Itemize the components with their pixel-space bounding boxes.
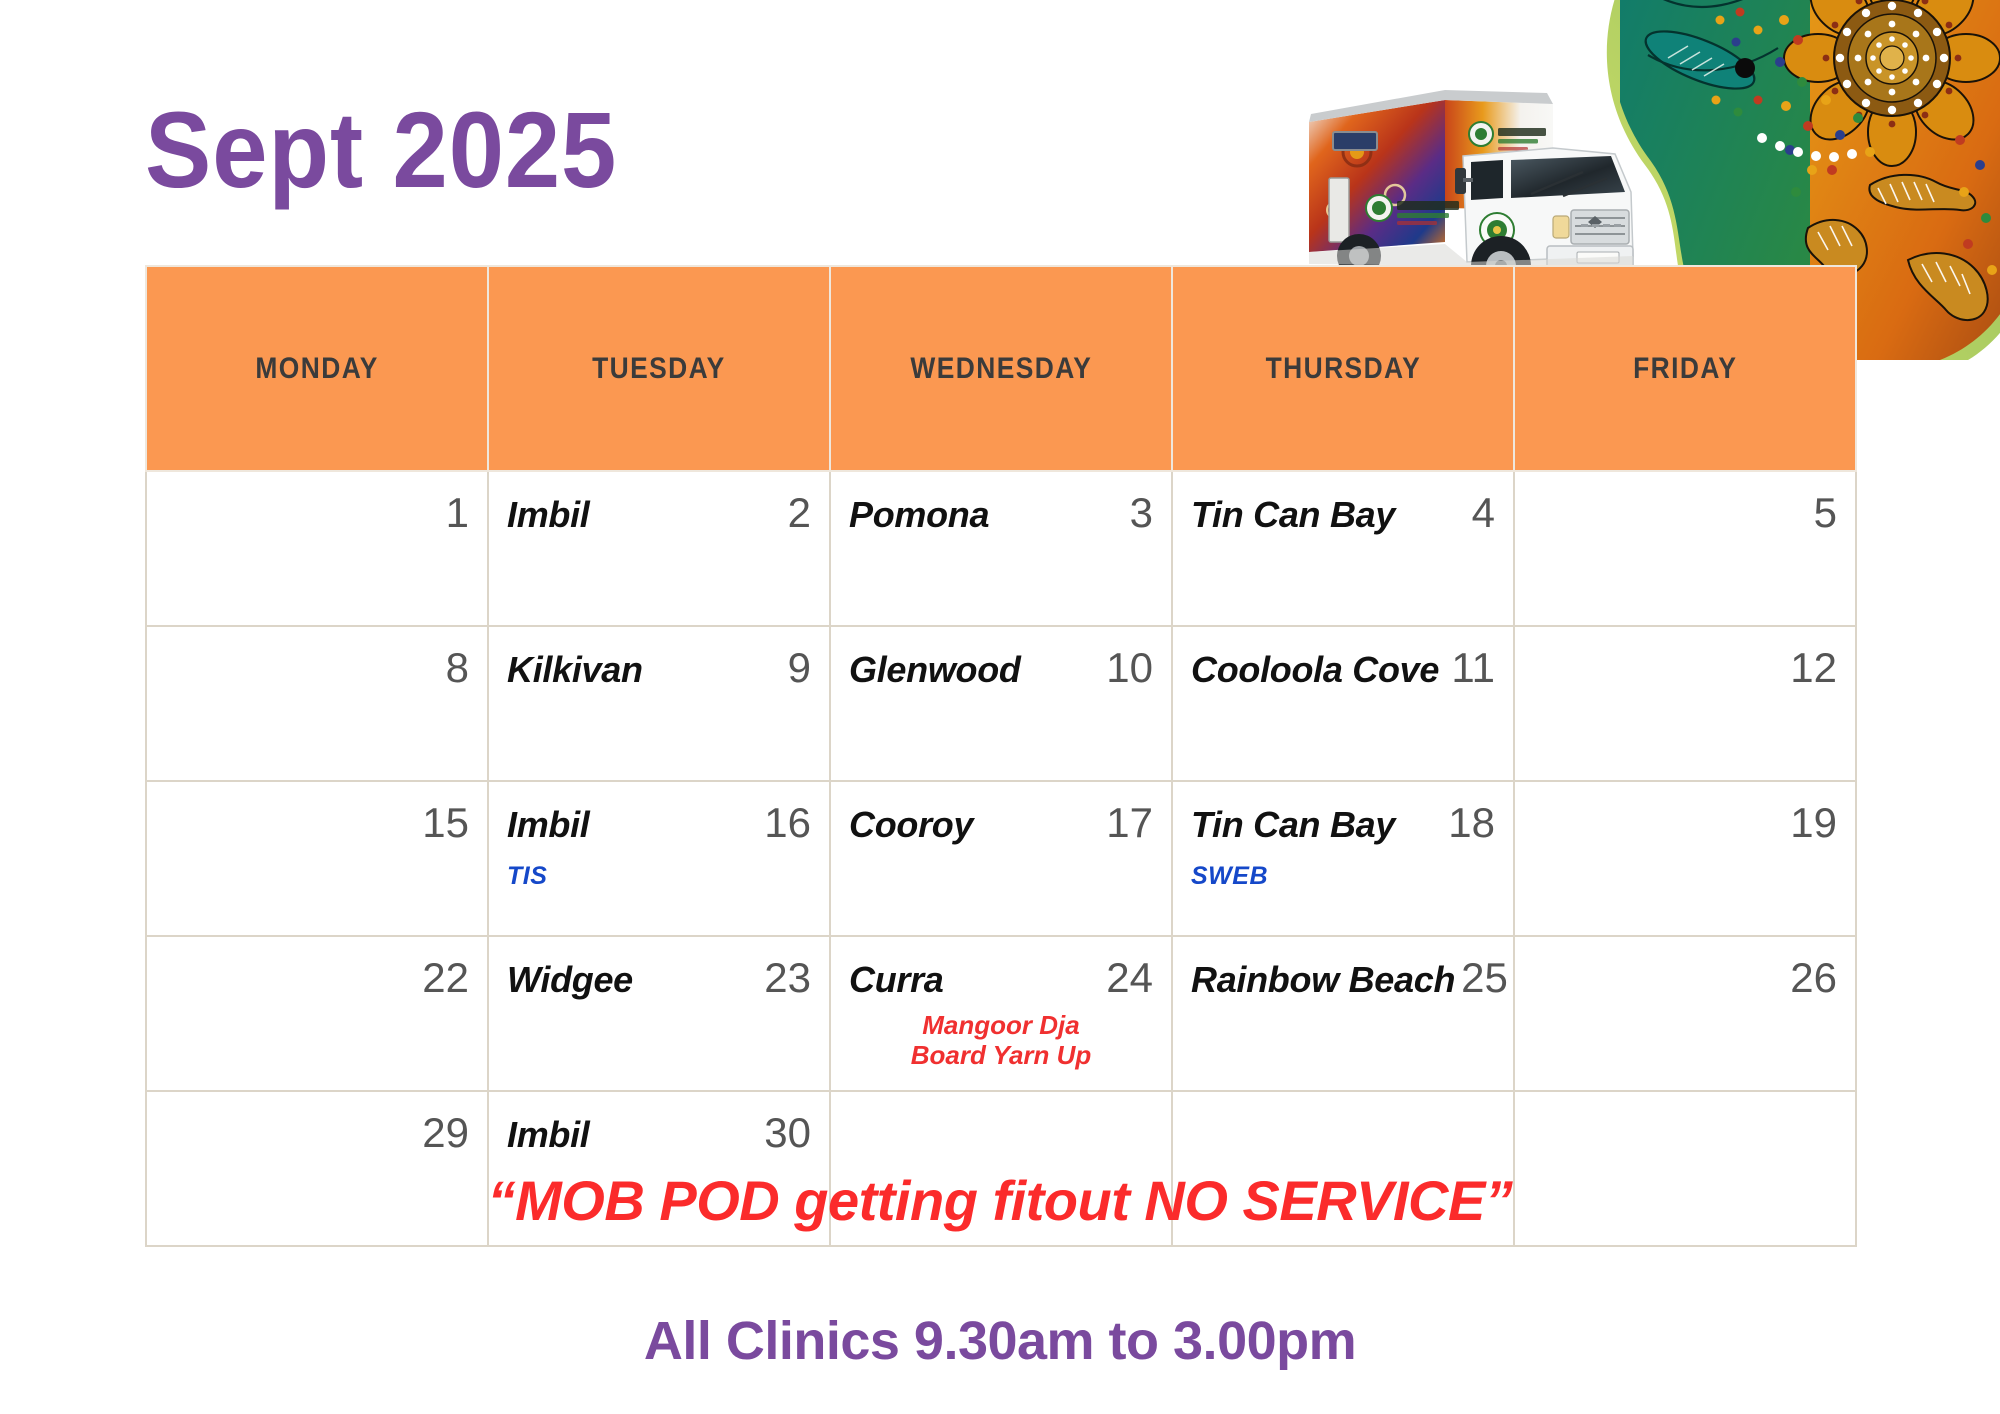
day-cell-header: Cooroy17 — [849, 802, 1153, 850]
calendar-day-cell[interactable]: 29 — [146, 1091, 488, 1246]
calendar-day-cell[interactable]: Cooroy17 — [830, 781, 1172, 936]
day-number: 19 — [1790, 802, 1837, 844]
day-cell-content: 8 — [147, 627, 487, 703]
day-cell-header: 8 — [165, 647, 469, 695]
day-cell-header: 29 — [165, 1112, 469, 1160]
day-cell-header: Curra24 — [849, 957, 1153, 1005]
day-number: 12 — [1790, 647, 1837, 689]
calendar-day-cell[interactable]: 5 — [1514, 471, 1856, 626]
calendar-week-row: 29Imbil30 — [146, 1091, 1856, 1246]
calendar-day-cell[interactable]: 8 — [146, 626, 488, 781]
day-cell-header — [1191, 1112, 1495, 1160]
day-cell-header: Imbil30 — [507, 1112, 811, 1160]
clinic-location-label: Cooloola Cove — [1191, 649, 1439, 691]
day-number: 4 — [1472, 492, 1495, 534]
day-cell-content: Kilkivan9 — [489, 627, 829, 703]
day-cell-header: Kilkivan9 — [507, 647, 811, 695]
day-cell-content: Curra24Mangoor Dja Board Yarn Up — [831, 937, 1171, 1079]
day-cell-content: 1 — [147, 472, 487, 548]
day-cell-content: Imbil30 — [489, 1092, 829, 1168]
day-cell-header: 1 — [165, 492, 469, 540]
day-cell-content: Tin Can Bay18SWEB — [1173, 782, 1513, 899]
day-cell-content: Tin Can Bay4 — [1173, 472, 1513, 548]
day-cell-header: Tin Can Bay4 — [1191, 492, 1495, 540]
day-cell-note: SWEB — [1191, 862, 1495, 891]
day-cell-header: Pomona3 — [849, 492, 1153, 540]
day-number: 15 — [422, 802, 469, 844]
day-number: 29 — [422, 1112, 469, 1154]
day-cell-header: 19 — [1533, 802, 1837, 850]
calendar-page: Sept 2025 MONDAY TUESDAY WEDNESDAY THURS… — [0, 0, 2000, 1414]
weekday-label: THURSDAY — [1265, 352, 1421, 386]
day-number: 16 — [764, 802, 811, 844]
day-cell-header: 5 — [1533, 492, 1837, 540]
day-cell-content: 5 — [1515, 472, 1855, 548]
day-cell-header — [1533, 1112, 1837, 1160]
clinic-location-label: Kilkivan — [507, 649, 643, 691]
day-number: 9 — [788, 647, 811, 689]
day-cell-header: Cooloola Cove11 — [1191, 647, 1495, 695]
calendar-day-cell[interactable] — [1514, 1091, 1856, 1246]
calendar-day-cell[interactable]: 15 — [146, 781, 488, 936]
clinic-location-label: Tin Can Bay — [1191, 494, 1395, 536]
calendar-day-cell[interactable]: 22 — [146, 936, 488, 1091]
calendar-day-cell[interactable]: Cooloola Cove11 — [1172, 626, 1514, 781]
day-cell-content: 26 — [1515, 937, 1855, 1013]
calendar-week-row: 22Widgee23Curra24Mangoor Dja Board Yarn … — [146, 936, 1856, 1091]
day-number: 22 — [422, 957, 469, 999]
calendar-day-cell[interactable]: Kilkivan9 — [488, 626, 830, 781]
day-cell-header: Glenwood10 — [849, 647, 1153, 695]
day-number: 24 — [1106, 957, 1153, 999]
day-cell-header: 22 — [165, 957, 469, 1005]
day-cell-header: 12 — [1533, 647, 1837, 695]
day-cell-header: Tin Can Bay18 — [1191, 802, 1495, 850]
calendar-day-cell[interactable] — [1172, 1091, 1514, 1246]
clinic-location-label: Widgee — [507, 959, 633, 1001]
calendar-day-cell[interactable]: Tin Can Bay4 — [1172, 471, 1514, 626]
day-number: 26 — [1790, 957, 1837, 999]
day-cell-content: Widgee23 — [489, 937, 829, 1013]
day-cell-content: Cooroy17 — [831, 782, 1171, 858]
day-cell-note: TIS — [507, 862, 811, 891]
weekday-label: FRIDAY — [1633, 352, 1737, 386]
weekday-header-wednesday: WEDNESDAY — [830, 266, 1172, 471]
day-number: 11 — [1451, 647, 1495, 689]
calendar-day-cell[interactable]: Widgee23 — [488, 936, 830, 1091]
day-number: 23 — [764, 957, 811, 999]
calendar-day-cell[interactable]: 19 — [1514, 781, 1856, 936]
calendar-day-cell[interactable]: 26 — [1514, 936, 1856, 1091]
page-title: Sept 2025 — [145, 96, 617, 204]
calendar-table: MONDAY TUESDAY WEDNESDAY THURSDAY FRIDAY… — [145, 265, 1857, 1247]
day-cell-content: Glenwood10 — [831, 627, 1171, 703]
day-cell-header: Imbil2 — [507, 492, 811, 540]
day-number: 10 — [1106, 647, 1153, 689]
clinic-location-label: Imbil — [507, 804, 590, 846]
calendar-day-cell[interactable]: Imbil16TIS — [488, 781, 830, 936]
weekday-label: TUESDAY — [592, 352, 726, 386]
calendar-day-cell[interactable]: Tin Can Bay18SWEB — [1172, 781, 1514, 936]
calendar-week-row: 8Kilkivan9Glenwood10Cooloola Cove1112 — [146, 626, 1856, 781]
day-number: 8 — [446, 647, 469, 689]
day-cell-content: Imbil16TIS — [489, 782, 829, 899]
clinic-location-label: Imbil — [507, 1114, 590, 1156]
day-number: 25 — [1461, 957, 1508, 999]
clinic-location-label: Cooroy — [849, 804, 973, 846]
weekday-header-friday: FRIDAY — [1514, 266, 1856, 471]
day-cell-content: 29 — [147, 1092, 487, 1168]
day-cell-content: 12 — [1515, 627, 1855, 703]
calendar-day-cell[interactable]: 12 — [1514, 626, 1856, 781]
weekday-header-tuesday: TUESDAY — [488, 266, 830, 471]
weekday-label: MONDAY — [255, 352, 378, 386]
calendar-day-cell[interactable] — [830, 1091, 1172, 1246]
clinic-location-label: Imbil — [507, 494, 590, 536]
day-cell-note: Mangoor Dja Board Yarn Up — [849, 1011, 1153, 1071]
day-cell-header: Widgee23 — [507, 957, 811, 1005]
weekday-label: WEDNESDAY — [910, 352, 1092, 386]
day-cell-content — [831, 1092, 1171, 1168]
weekday-header-monday: MONDAY — [146, 266, 488, 471]
calendar-day-cell[interactable]: Curra24Mangoor Dja Board Yarn Up — [830, 936, 1172, 1091]
calendar-body: 1Imbil2Pomona3Tin Can Bay458Kilkivan9Gle… — [146, 471, 1856, 1246]
day-cell-content: Cooloola Cove11 — [1173, 627, 1513, 703]
clinic-location-label: Pomona — [849, 494, 989, 536]
calendar-day-cell[interactable]: Rainbow Beach25 — [1172, 936, 1514, 1091]
weekday-header-thursday: THURSDAY — [1172, 266, 1514, 471]
day-cell-header: Rainbow Beach25 — [1191, 957, 1495, 1005]
clinic-location-label: Tin Can Bay — [1191, 804, 1395, 846]
day-number: 1 — [446, 492, 469, 534]
day-cell-content: 19 — [1515, 782, 1855, 858]
calendar-day-cell[interactable]: Pomona3 — [830, 471, 1172, 626]
day-number: 3 — [1130, 492, 1153, 534]
day-cell-header: 15 — [165, 802, 469, 850]
clinic-hours-footer: All Clinics 9.30am to 3.00pm — [0, 1310, 2000, 1372]
day-cell-header: 26 — [1533, 957, 1837, 1005]
calendar-day-cell[interactable]: Glenwood10 — [830, 626, 1172, 781]
day-number: 17 — [1106, 802, 1153, 844]
day-cell-header — [849, 1112, 1153, 1160]
calendar-day-cell[interactable]: Imbil30 — [488, 1091, 830, 1246]
calendar-header-row: MONDAY TUESDAY WEDNESDAY THURSDAY FRIDAY — [146, 266, 1856, 471]
day-number: 30 — [764, 1112, 811, 1154]
day-number: 18 — [1448, 802, 1495, 844]
day-number: 5 — [1814, 492, 1837, 534]
day-number: 2 — [788, 492, 811, 534]
calendar-week-row: 1Imbil2Pomona3Tin Can Bay45 — [146, 471, 1856, 626]
day-cell-header: Imbil16 — [507, 802, 811, 850]
calendar-week-row: 15Imbil16TISCooroy17Tin Can Bay18SWEB19 — [146, 781, 1856, 936]
day-cell-content: 15 — [147, 782, 487, 858]
day-cell-content: 22 — [147, 937, 487, 1013]
calendar-day-cell[interactable]: 1 — [146, 471, 488, 626]
calendar-day-cell[interactable]: Imbil2 — [488, 471, 830, 626]
day-cell-content: Imbil2 — [489, 472, 829, 548]
day-cell-content — [1515, 1092, 1855, 1168]
clinic-location-label: Glenwood — [849, 649, 1021, 691]
day-cell-content: Rainbow Beach25 — [1173, 937, 1513, 1013]
clinic-location-label: Rainbow Beach — [1191, 959, 1455, 1001]
clinic-location-label: Curra — [849, 959, 944, 1001]
day-cell-content: Pomona3 — [831, 472, 1171, 548]
day-cell-content — [1173, 1092, 1513, 1168]
